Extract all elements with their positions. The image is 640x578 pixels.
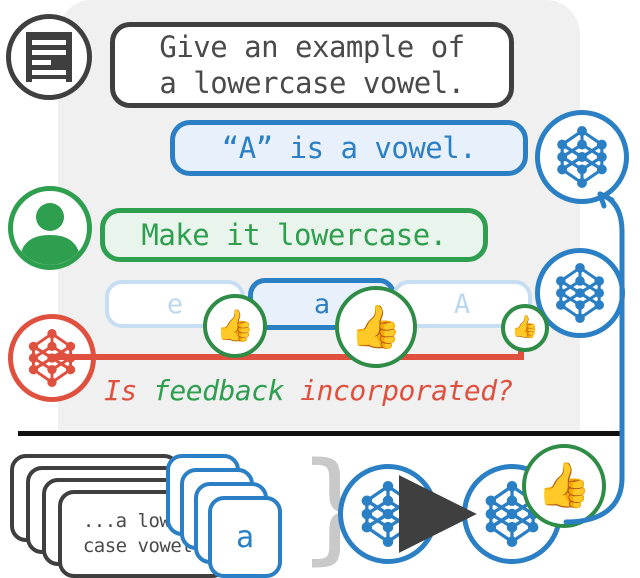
candidate-label: A [454,289,470,320]
document-glyph [24,30,74,84]
feedback-question: Is feedback incorporated? [104,374,574,407]
neural-network-glyph [550,263,610,323]
thumbs-up-glyph: 👍 [350,306,402,348]
candidate-label: a [314,289,330,320]
user-feedback-bubble: Make it lowercase. [100,208,488,262]
prompt-bubble: Give an example of a lowercase vowel. [110,22,514,108]
thumbs-up-icon-tuned-model: 👍 [522,444,606,528]
neural-network-glyph [355,481,421,547]
token-card-front: a [208,496,282,578]
neural-network-icon-base-model [338,464,438,564]
thumbs-up-glyph: 👍 [511,317,538,339]
neural-network-icon-assistant [535,110,629,204]
candidate-label: e [167,289,183,320]
user-glyph [13,191,87,265]
feedback-question-part-1: Is [104,374,153,407]
thumbs-up-icon-e: 👍 [203,294,267,358]
prompt-text: Give an example of a lowercase vowel. [159,29,464,102]
thumbs-up-glyph: 👍 [537,464,592,508]
user-feedback-text: Make it lowercase. [141,217,446,253]
document-icon [6,14,92,100]
figure-canvas: Give an example of a lowercase vowel. “A… [0,0,640,577]
reward-connector-line [48,354,524,360]
thumbs-up-icon-uppercase-a: 👍 [501,304,549,352]
assistant-reply-text: “A” is a vowel. [222,130,476,166]
section-divider [18,431,622,436]
thumbs-up-glyph: 👍 [216,311,255,342]
feedback-question-part-2: feedback [153,374,300,407]
user-avatar-icon [8,186,92,270]
assistant-reply-bubble: “A” is a vowel. [170,120,528,176]
neural-network-glyph [551,126,613,188]
feedback-question-part-3: incorporated? [300,374,513,407]
thumbs-up-icon-a: 👍 [335,286,417,368]
token-card-label: a [236,520,254,555]
